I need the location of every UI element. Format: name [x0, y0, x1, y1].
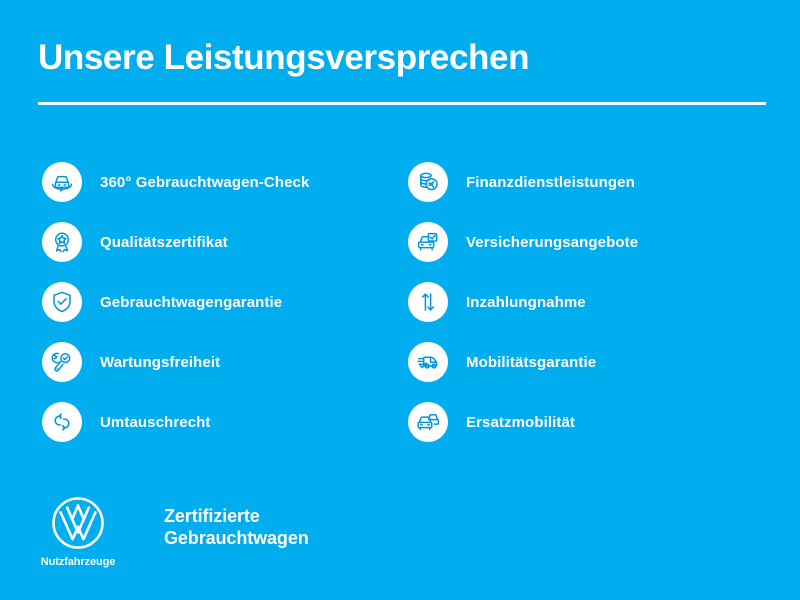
feature-label: Inzahlungnahme [466, 294, 586, 311]
feature-label: Gebrauchtwagengarantie [100, 294, 282, 311]
footer: Nutzfahrzeuge Zertifizierte Gebrauchtwag… [38, 495, 309, 568]
wrench-check-icon [42, 342, 82, 382]
volkswagen-logo-icon [50, 495, 106, 551]
feature-label: Finanzdienstleistungen [466, 174, 635, 191]
brand-block: Nutzfahrzeuge [38, 495, 118, 568]
car-360-check-icon [42, 162, 82, 202]
exchange-arrows-icon [42, 402, 82, 442]
slide-root: Unsere Leistungsversprechen 360° Gebrauc… [0, 0, 800, 600]
features-grid: 360° Gebrauchtwagen-Check Qualitätszerti… [0, 152, 800, 452]
coins-euro-icon [408, 162, 448, 202]
feature-item[interactable]: Ersatzmobilität [408, 392, 800, 452]
footer-tagline-line1: Zertifizierte [164, 505, 309, 527]
feature-item[interactable]: 360° Gebrauchtwagen-Check [42, 152, 406, 212]
feature-item[interactable]: Finanzdienstleistungen [408, 152, 800, 212]
feature-item[interactable]: Versicherungsangebote [408, 212, 800, 272]
feature-item[interactable]: Mobilitätsgarantie [408, 332, 800, 392]
brand-subtitle: Nutzfahrzeuge [41, 556, 115, 568]
arrows-up-down-icon [408, 282, 448, 322]
car-checkbox-icon [408, 222, 448, 262]
shield-check-icon [42, 282, 82, 322]
feature-label: Wartungsfreiheit [100, 354, 220, 371]
feature-label: Qualitätszertifikat [100, 234, 228, 251]
feature-item[interactable]: Gebrauchtwagengarantie [42, 272, 406, 332]
header: Unsere Leistungsversprechen [38, 36, 766, 105]
feature-item[interactable]: Qualitätszertifikat [42, 212, 406, 272]
feature-label: Ersatzmobilität [466, 414, 575, 431]
two-cars-icon [408, 402, 448, 442]
award-rosette-icon [42, 222, 82, 262]
page-title: Unsere Leistungsversprechen [38, 36, 766, 80]
feature-label: Versicherungsangebote [466, 234, 638, 251]
footer-tagline-line2: Gebrauchtwagen [164, 527, 309, 549]
van-motion-icon [408, 342, 448, 382]
feature-item[interactable]: Inzahlungnahme [408, 272, 800, 332]
features-left-column: 360° Gebrauchtwagen-Check Qualitätszerti… [0, 152, 406, 452]
features-right-column: Finanzdienstleistungen Versicherungsange… [406, 152, 800, 452]
feature-label: Mobilitätsgarantie [466, 354, 596, 371]
feature-label: Umtauschrecht [100, 414, 211, 431]
title-divider [38, 102, 766, 105]
feature-item[interactable]: Umtauschrecht [42, 392, 406, 452]
feature-item[interactable]: Wartungsfreiheit [42, 332, 406, 392]
footer-tagline: Zertifizierte Gebrauchtwagen [164, 505, 309, 549]
feature-label: 360° Gebrauchtwagen-Check [100, 174, 309, 191]
